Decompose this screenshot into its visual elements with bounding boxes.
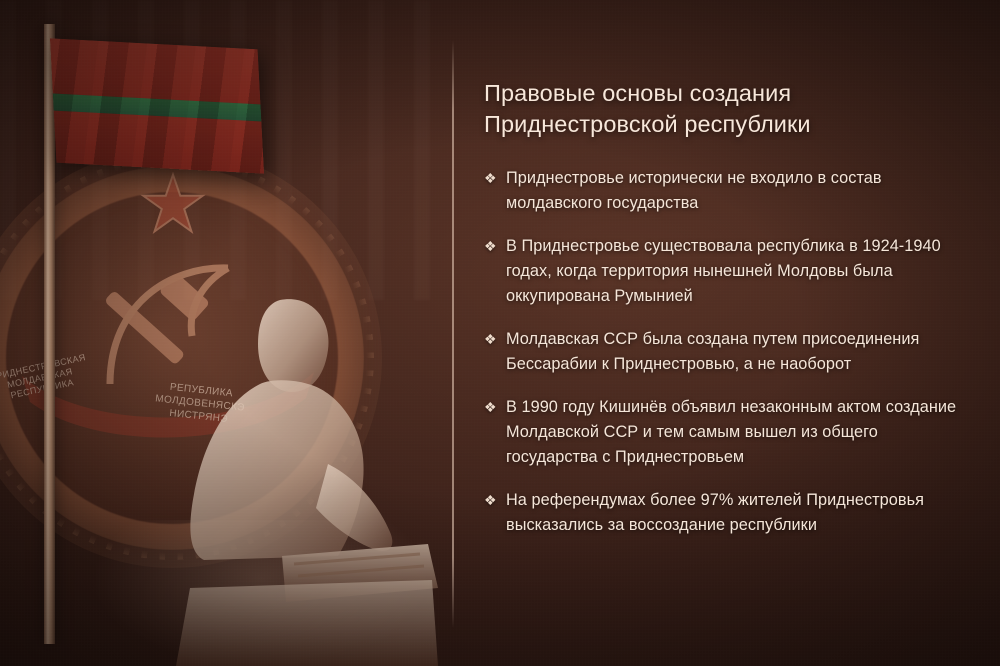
list-item: ❖ На референдумах более 97% жителей Прид…: [484, 488, 968, 538]
diamond-bullet-icon: ❖: [484, 327, 506, 352]
bullet-text: Приднестровье исторически не входило в с…: [506, 166, 968, 216]
bullet-list: ❖ Приднестровье исторически не входило в…: [484, 166, 968, 538]
list-item: ❖ В 1990 году Кишинёв объявил незаконным…: [484, 395, 968, 470]
slide-text-column: Правовые основы создания Приднестровской…: [484, 78, 968, 556]
bullet-text: В Приднестровье существовала республика …: [506, 234, 968, 309]
column-divider: [452, 40, 454, 628]
bullet-text: Молдавская ССР была создана путем присое…: [506, 327, 968, 377]
diamond-bullet-icon: ❖: [484, 234, 506, 259]
diamond-bullet-icon: ❖: [484, 166, 506, 191]
list-item: ❖ Приднестровье исторически не входило в…: [484, 166, 968, 216]
bullet-text: В 1990 году Кишинёв объявил незаконным а…: [506, 395, 968, 470]
slide-title: Правовые основы создания Приднестровской…: [484, 78, 968, 140]
bullet-text: На референдумах более 97% жителей Придне…: [506, 488, 968, 538]
list-item: ❖ Молдавская ССР была создана путем прис…: [484, 327, 968, 377]
diamond-bullet-icon: ❖: [484, 488, 506, 513]
list-item: ❖ В Приднестровье существовала республик…: [484, 234, 968, 309]
presentation-slide: Приднестровская Молдавская Республика Ре…: [0, 0, 1000, 666]
diamond-bullet-icon: ❖: [484, 395, 506, 420]
